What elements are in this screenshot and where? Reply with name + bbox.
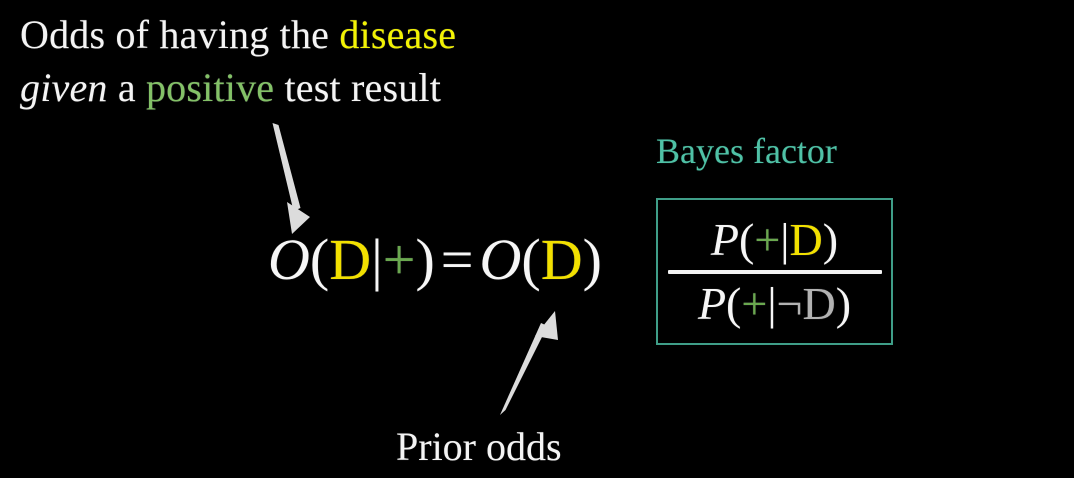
slide-canvas: Odds of having the disease given a posit… bbox=[0, 0, 1074, 478]
rhs-event-d: D bbox=[541, 227, 583, 292]
headline-line-2: given a positive test result bbox=[20, 61, 456, 114]
lhs-event-d: D bbox=[329, 227, 371, 292]
den-negation-symbol: ¬ bbox=[777, 278, 803, 329]
den-open-paren: ( bbox=[726, 278, 741, 329]
headline-text: Odds of having the disease given a posit… bbox=[20, 8, 456, 114]
lhs-condition-plus: + bbox=[383, 227, 416, 292]
fraction-numerator: P(+|D) bbox=[711, 212, 838, 268]
num-close-paren: ) bbox=[823, 214, 838, 265]
num-open-paren: ( bbox=[739, 214, 754, 265]
lhs-given-bar: | bbox=[371, 227, 383, 292]
headline-line2-article: a bbox=[108, 65, 146, 110]
rhs-close-paren: ) bbox=[583, 227, 602, 292]
keyword-given: given bbox=[20, 65, 108, 110]
den-outcome-plus: + bbox=[741, 278, 767, 329]
headline-line2-suffix: test result bbox=[274, 65, 441, 110]
fraction-bar bbox=[668, 270, 882, 274]
lhs-open-paren: ( bbox=[310, 227, 329, 292]
keyword-disease: disease bbox=[339, 12, 456, 57]
main-equation: O(D|+)=O(D) bbox=[268, 228, 602, 292]
keyword-positive: positive bbox=[146, 65, 274, 110]
arrow-to-prior-odds-icon bbox=[480, 298, 580, 433]
odds-operator-lhs: O bbox=[268, 227, 310, 292]
arrow-to-posterior-odds-icon bbox=[250, 112, 330, 242]
num-event-d: D bbox=[790, 214, 823, 265]
num-given-bar: | bbox=[780, 214, 789, 265]
den-given-bar: | bbox=[767, 278, 776, 329]
rhs-open-paren: ( bbox=[521, 227, 540, 292]
equation-rhs: O(D) bbox=[480, 227, 602, 292]
fraction-denominator: P(+|¬D) bbox=[698, 276, 851, 332]
headline-line1-prefix: Odds of having the bbox=[20, 12, 339, 57]
lhs-close-paren: ) bbox=[415, 227, 434, 292]
den-close-paren: ) bbox=[836, 278, 851, 329]
headline-line-1: Odds of having the disease bbox=[20, 8, 456, 61]
bayes-factor-fraction: P(+|D) P(+|¬D) bbox=[658, 200, 891, 343]
equals-sign: = bbox=[435, 227, 480, 292]
equation-lhs: O(D|+) bbox=[268, 227, 435, 292]
den-event-d: D bbox=[803, 278, 836, 329]
num-outcome-plus: + bbox=[754, 214, 780, 265]
bayes-factor-label: Bayes factor bbox=[656, 130, 837, 172]
num-prob-function: P bbox=[711, 214, 739, 265]
bayes-factor-box: P(+|D) P(+|¬D) bbox=[656, 198, 893, 345]
odds-operator-rhs: O bbox=[480, 227, 522, 292]
den-prob-function: P bbox=[698, 278, 726, 329]
prior-odds-label: Prior odds bbox=[396, 424, 562, 470]
